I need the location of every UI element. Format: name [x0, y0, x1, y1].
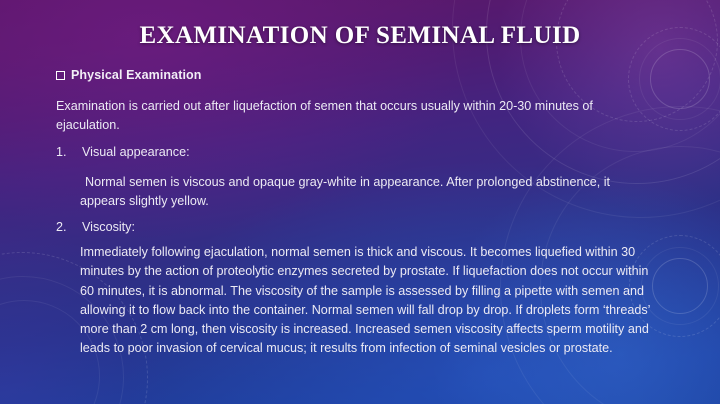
- list-item-1-text: Normal semen is viscous and opaque gray-…: [80, 173, 656, 212]
- subheading: Physical Examination: [56, 68, 202, 82]
- slide-title: EXAMINATION OF SEMINAL FLUID: [0, 22, 720, 50]
- list-item-2-label: Viscosity:: [82, 218, 135, 237]
- list-item-1: 1. Visual appearance:: [56, 143, 656, 162]
- intro-text: Examination is carried out after liquefa…: [56, 97, 656, 136]
- list-item-1-body: Normal semen is viscous and opaque gray-…: [80, 173, 656, 212]
- list-item-2-body: Immediately following ejaculation, norma…: [80, 243, 656, 359]
- list-item-1-label: Visual appearance:: [82, 143, 190, 162]
- list-item-2-text: Immediately following ejaculation, norma…: [80, 243, 656, 359]
- list-item-1-number: 1.: [56, 143, 82, 162]
- subheading-label: Physical Examination: [71, 68, 202, 82]
- list-item-2: 2. Viscosity:: [56, 218, 656, 237]
- presentation-slide: EXAMINATION OF SEMINAL FLUID Physical Ex…: [0, 0, 720, 404]
- square-bullet-icon: [56, 71, 65, 80]
- slide-content: EXAMINATION OF SEMINAL FLUID Physical Ex…: [0, 0, 720, 404]
- intro-paragraph: Examination is carried out after liquefa…: [56, 97, 656, 136]
- list-item-2-number: 2.: [56, 218, 82, 237]
